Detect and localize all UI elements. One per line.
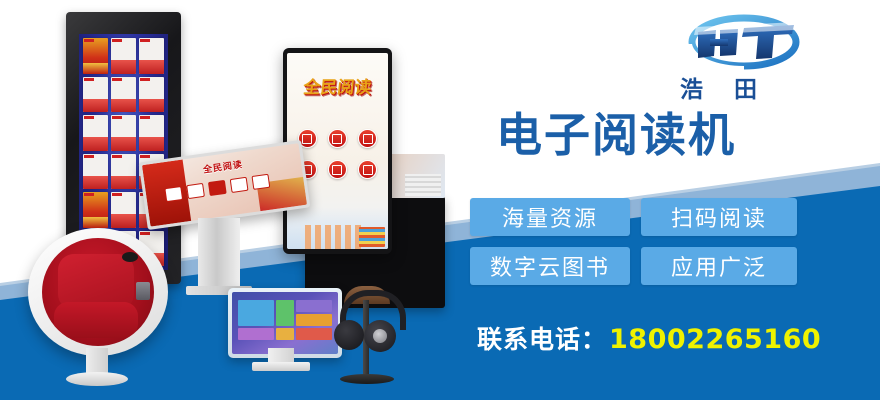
logo-char-hao: 浩 <box>680 70 704 104</box>
book-cover <box>83 115 108 151</box>
signage-icon-grid <box>296 129 379 185</box>
table-icon <box>251 174 270 190</box>
product-collage: 全民阅读 全民阅读 <box>0 0 450 400</box>
feature-tag-list: 海量资源 扫码阅读 数字云图书 应用广泛 <box>470 198 800 285</box>
signage-icon-label <box>367 181 368 185</box>
ht-swoosh-logo <box>672 14 822 74</box>
chair-seat-cushion <box>54 302 138 338</box>
feature-tag-scan-to-read[interactable]: 扫码阅读 <box>641 198 797 236</box>
tablet-screen <box>232 292 338 354</box>
contact-phone[interactable]: 联系电话： 18002265160 <box>477 320 821 356</box>
signage-icon-label <box>337 150 338 154</box>
book-cover <box>111 192 136 228</box>
book-cover <box>111 115 136 151</box>
tablet-tile <box>296 328 332 340</box>
contact-phone-label: 联系电话： <box>477 320 607 356</box>
tablet-tile <box>296 314 332 326</box>
chair-base <box>66 372 128 386</box>
chair-control-panel <box>136 282 150 300</box>
signage-books-graphic <box>359 227 385 247</box>
table-display-stand <box>198 218 240 290</box>
feature-tag-wide-application[interactable]: 应用广泛 <box>641 247 797 285</box>
book-cover <box>83 38 108 74</box>
table-display-title: 全民阅读 <box>202 157 243 175</box>
table-icon <box>186 183 205 199</box>
chair-interior <box>42 238 154 346</box>
table-icon <box>164 186 183 202</box>
tablet-tile <box>296 300 332 312</box>
headphone-stand-base <box>340 374 394 384</box>
book-cover <box>111 77 136 113</box>
feature-tag-digital-cloud-library[interactable]: 数字云图书 <box>470 247 630 285</box>
product-banner: 全民阅读 全民阅读 <box>0 0 880 400</box>
headphone-earcup-left <box>334 320 364 350</box>
feature-tag-massive-resources[interactable]: 海量资源 <box>470 198 630 236</box>
tablet-base <box>252 362 310 371</box>
signage-screen-title: 全民阅读 <box>287 73 388 98</box>
headphones-on-stand <box>330 282 404 390</box>
signage-icon-item <box>326 129 348 154</box>
tablet-tile-grid <box>238 300 332 340</box>
table-icon <box>208 180 227 196</box>
company-logo[interactable]: 浩 田 <box>672 14 822 106</box>
book-cover <box>111 38 136 74</box>
tablet-tile <box>276 328 293 340</box>
book-cover <box>139 115 164 151</box>
location-icon <box>358 160 377 179</box>
contact-phone-number[interactable]: 18002265160 <box>609 324 821 355</box>
table-icon <box>230 177 249 193</box>
tablet-tile <box>238 328 274 340</box>
signage-icon-label <box>367 150 368 154</box>
tablet-tile <box>238 300 274 326</box>
signage-icon-label <box>307 150 308 154</box>
tablet-tile <box>276 300 293 326</box>
compass-icon <box>328 129 347 148</box>
book-cover <box>83 192 108 228</box>
reading-ball-chair <box>28 228 168 356</box>
signage-icon-label <box>337 181 338 185</box>
logo-char-tian: 田 <box>734 70 758 104</box>
headphone-earcup-right <box>364 320 396 352</box>
signage-icon-item <box>357 160 379 185</box>
signage-icon-item <box>357 129 379 154</box>
company-name-cn: 浩 田 <box>680 70 820 104</box>
book-cover <box>83 154 108 190</box>
chair-speaker <box>122 252 138 262</box>
desktop-tablet-terminal <box>228 288 334 354</box>
emblem-icon <box>328 160 347 179</box>
book-cover <box>111 154 136 190</box>
book-cover <box>139 77 164 113</box>
page-title: 电子阅读机 <box>496 112 736 158</box>
book-cover <box>139 38 164 74</box>
news-icon <box>358 129 377 148</box>
signage-icon-item <box>326 160 348 185</box>
book-cover <box>83 77 108 113</box>
